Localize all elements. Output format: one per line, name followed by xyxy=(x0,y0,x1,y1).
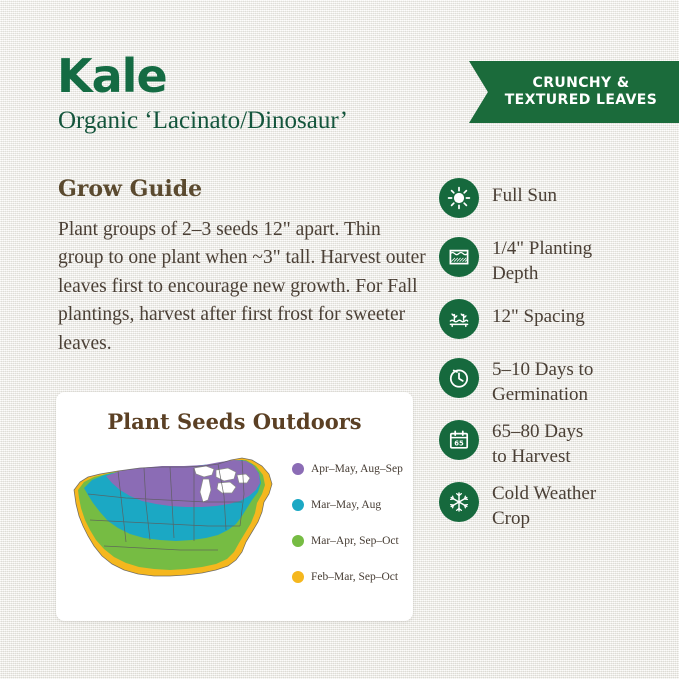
info-label-line-2: Crop xyxy=(492,508,530,529)
legend-item: Apr–May, Aug–Sep xyxy=(292,454,412,484)
seed-packet-panel: Kale Organic ‘Lacinato/Dinosaur’ Crunchy… xyxy=(0,0,679,679)
info-label-line-1: 5–10 Days to xyxy=(492,359,593,380)
map-legend: Apr–May, Aug–Sep Mar–May, Aug Mar–Apr, S… xyxy=(292,454,412,598)
sun-icon xyxy=(439,178,479,218)
legend-item: Mar–Apr, Sep–Oct xyxy=(292,526,412,556)
us-planting-zone-map xyxy=(66,446,288,598)
legend-item: Mar–May, Aug xyxy=(292,490,412,520)
info-label-line-1: Cold Weather xyxy=(492,483,596,504)
ribbon-line-2: Textured Leaves xyxy=(505,92,658,108)
legend-dot-icon xyxy=(292,499,304,511)
info-row-harvest: 65 65–80 Days to Harvest xyxy=(439,418,675,469)
info-label: 65–80 Days to Harvest xyxy=(492,418,583,469)
planting-depth-icon xyxy=(439,237,479,277)
variety-subtitle: Organic ‘Lacinato/Dinosaur’ xyxy=(58,106,348,136)
info-row-cold-weather: Cold Weather Crop xyxy=(439,480,675,531)
clock-icon xyxy=(439,358,479,398)
growing-info-list: Full Sun 1/4" P xyxy=(439,176,675,542)
legend-label: Apr–May, Aug–Sep xyxy=(311,462,403,476)
info-label-line-1: 65–80 Days xyxy=(492,421,583,442)
info-row-germination: 5–10 Days to Germination xyxy=(439,356,675,407)
legend-label: Mar–May, Aug xyxy=(311,498,381,512)
info-label: 1/4" Planting Depth xyxy=(492,235,592,286)
grow-guide-heading: Grow Guide xyxy=(58,176,202,202)
legend-dot-icon xyxy=(292,571,304,583)
map-card-title: Plant Seeds Outdoors xyxy=(56,409,413,434)
ribbon-line-1: Crunchy & xyxy=(533,75,630,91)
info-label-line-2: to Harvest xyxy=(492,446,571,467)
legend-dot-icon xyxy=(292,463,304,475)
calendar-icon: 65 xyxy=(439,420,479,460)
ribbon-text: Crunchy & Textured Leaves xyxy=(505,75,658,109)
legend-label: Feb–Mar, Sep–Oct xyxy=(311,570,398,584)
info-label: Cold Weather Crop xyxy=(492,480,596,531)
page-title: Kale xyxy=(57,52,167,100)
info-label-line-1: 1/4" Planting xyxy=(492,238,592,259)
us-map-svg xyxy=(66,446,288,598)
feature-ribbon: Crunchy & Textured Leaves xyxy=(469,61,679,123)
grow-guide-body: Plant groups of 2–3 seeds 12" apart. Thi… xyxy=(58,216,426,358)
info-label-line-2: Depth xyxy=(492,263,538,284)
calendar-badge-text: 65 xyxy=(454,439,464,447)
info-label-line-2: Germination xyxy=(492,384,588,405)
legend-item: Feb–Mar, Sep–Oct xyxy=(292,562,412,592)
legend-label: Mar–Apr, Sep–Oct xyxy=(311,534,399,548)
info-label: 12" Spacing xyxy=(492,297,585,329)
info-row-spacing: 12" Spacing xyxy=(439,297,675,345)
legend-dot-icon xyxy=(292,535,304,547)
info-row-planting-depth: 1/4" Planting Depth xyxy=(439,235,675,286)
info-label: 5–10 Days to Germination xyxy=(492,356,593,407)
info-label: Full Sun xyxy=(492,176,557,208)
planting-map-card: Plant Seeds Outdoors xyxy=(56,392,413,621)
snowflake-icon xyxy=(439,482,479,522)
info-row-full-sun: Full Sun xyxy=(439,176,675,224)
spacing-icon xyxy=(439,299,479,339)
